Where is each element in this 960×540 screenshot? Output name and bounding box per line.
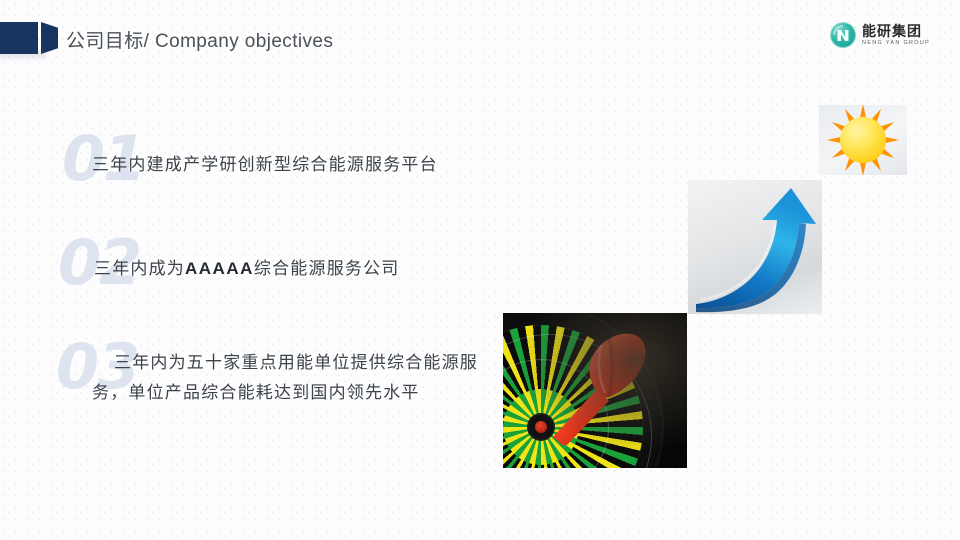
objective-text-01: 三年内建成产学研创新型综合能源服务平台 — [92, 150, 438, 180]
logo-name-cn: 能研集团 — [862, 24, 930, 38]
objective-text-02-prefix: 三年内成为 — [94, 259, 185, 278]
upward-arrow-illustration — [688, 180, 822, 314]
objective-item-03: 03 三年内为五十家重点用能单位提供综合能源服务，单位产品综合能耗达到国内领先水… — [56, 336, 516, 446]
objective-text-02: 三年内成为AAAAA综合能源服务公司 — [94, 254, 400, 284]
objective-item-01: 01 三年内建成产学研创新型综合能源服务平台 — [62, 128, 532, 208]
dartboard-light-glow — [503, 313, 687, 468]
ribbon-segment-left — [0, 22, 38, 54]
objective-text-02-emphasis: AAAAA — [185, 259, 254, 278]
logo-name-en: NENG YAN GROUP — [862, 41, 930, 47]
logo-text-block: 能研集团 NENG YAN GROUP — [862, 24, 930, 47]
page-title-en: Company objectives — [155, 31, 333, 52]
ribbon-accent-shape — [0, 22, 58, 54]
objective-item-02: 02 三年内成为AAAAA综合能源服务公司 — [58, 232, 528, 312]
upward-arrow-icon — [688, 180, 822, 314]
neng-yan-circular-emblem-icon — [830, 22, 856, 48]
sun-disc — [840, 117, 886, 163]
page-title-cn: 公司目标 — [66, 31, 144, 52]
sun-illustration — [819, 105, 907, 175]
objective-text-02-suffix: 综合能源服务公司 — [254, 259, 400, 278]
objective-text-03: 三年内为五十家重点用能单位提供综合能源服务，单位产品综合能耗达到国内领先水平 — [92, 348, 492, 408]
page-title: 公司目标/ Company objectives — [66, 26, 333, 53]
dartboard-photo — [503, 313, 687, 468]
ribbon-segment-right — [41, 22, 58, 54]
company-logo: 能研集团 NENG YAN GROUP — [830, 22, 930, 48]
slide-canvas: 公司目标/ Company objectives 能研集团 NENG YAN G… — [0, 0, 960, 540]
page-title-separator: / — [144, 31, 150, 52]
